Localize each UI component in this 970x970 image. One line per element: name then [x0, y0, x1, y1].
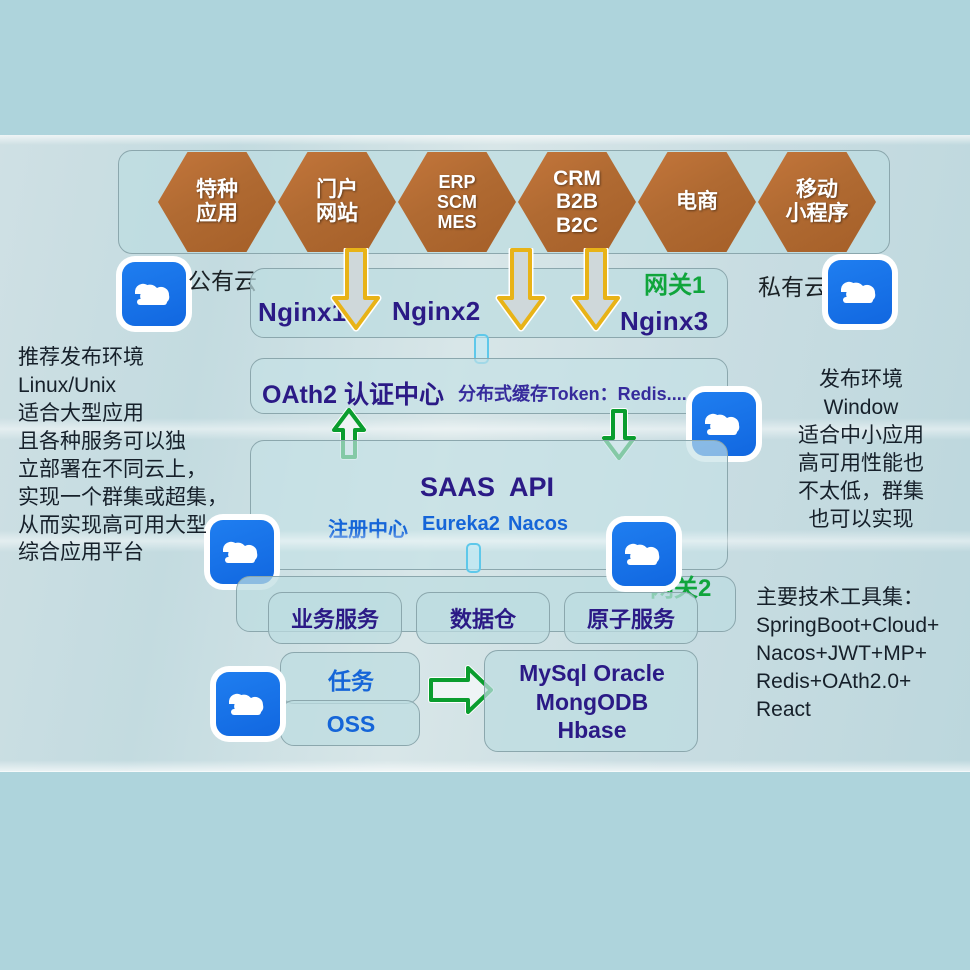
note-right-stack: 主要技术工具集： SpringBoot+Cloud+ Nacos+JWT+MP+…	[756, 584, 970, 724]
cloud-icon-private	[828, 260, 892, 324]
app-hex-label: 电商	[676, 190, 718, 214]
cloud-icon	[621, 535, 667, 573]
arrow-down-yellow-2	[495, 248, 547, 337]
app-hex-label: 移动小程序	[786, 178, 849, 225]
app-hex-label: CRMB2BB2C	[553, 167, 601, 238]
app-hex-mobile[interactable]: 移动小程序	[758, 152, 876, 252]
storage-line-3: Hbase	[557, 716, 626, 745]
storage-line-1: MySql Oracle	[519, 659, 665, 688]
app-hex-label: ERPSCMMES	[437, 172, 477, 232]
app-hex-portal[interactable]: 门户网站	[278, 152, 396, 252]
cloud-icon	[701, 405, 747, 443]
cloud-icon-bottom	[216, 672, 280, 736]
arrow-down-yellow-3	[570, 248, 622, 337]
cloud-icon	[131, 275, 177, 313]
storage-box[interactable]: MySql Oracle MongODB Hbase	[484, 650, 698, 752]
note-left: 推荐发布环境 Linux/Unix 适合大型应用 且各种服务可以独 立部署在不同…	[18, 344, 238, 567]
connector-saas-services	[466, 543, 481, 573]
cloud-label-private: 私有云	[758, 268, 827, 302]
storage-line-2: MongODB	[536, 688, 648, 717]
app-hex-crm[interactable]: CRMB2BB2C	[518, 152, 636, 252]
auth-title: OAth2 认证中心	[262, 375, 444, 411]
nginx3-label[interactable]: Nginx3	[620, 306, 708, 337]
cloud-icon	[225, 685, 271, 723]
service-label: 业务服务	[291, 602, 379, 634]
arrow-down-yellow-1	[330, 248, 382, 337]
app-hex-ecommerce[interactable]: 电商	[638, 152, 756, 252]
diagram-canvas: 特种应用 门户网站 ERPSCMMES CRMB2BB2C 电商 移动小程序 公…	[0, 0, 970, 970]
app-hex-special[interactable]: 特种应用	[158, 152, 276, 252]
cloud-icon-public	[122, 262, 186, 326]
app-hex-label: 门户网站	[316, 178, 358, 225]
service-box-datawarehouse[interactable]: 数据仓	[416, 592, 550, 644]
service-box-business[interactable]: 业务服务	[268, 592, 402, 644]
gateway1-badge: 网关1	[644, 265, 705, 300]
nginx2-label[interactable]: Nginx2	[392, 296, 480, 327]
application-hexagon-row: 特种应用 门户网站 ERPSCMMES CRMB2BB2C 电商 移动小程序	[118, 152, 888, 252]
task-label: 任务	[281, 653, 421, 705]
saas-title: SAAS API	[420, 472, 554, 503]
service-label: 原子服务	[587, 602, 675, 634]
app-hex-label: 特种应用	[196, 178, 238, 225]
oss-box[interactable]: OSS	[280, 700, 420, 746]
service-label: 数据仓	[450, 602, 516, 634]
task-box[interactable]: 任务	[280, 652, 420, 704]
cloud-label-public: 公有云	[188, 262, 257, 296]
app-hex-erp[interactable]: ERPSCMMES	[398, 152, 516, 252]
oss-label: OSS	[281, 701, 421, 747]
cloud-icon	[837, 273, 883, 311]
service-box-atomic[interactable]: 原子服务	[564, 592, 698, 644]
note-right-env: 发布环境 Window 适合中小应用 高可用性能也 不太低，群集 也可以实现	[756, 366, 966, 534]
auth-cache-label: 分布式缓存Token：Redis....	[458, 380, 687, 406]
cloud-icon-gateway2	[612, 522, 676, 586]
